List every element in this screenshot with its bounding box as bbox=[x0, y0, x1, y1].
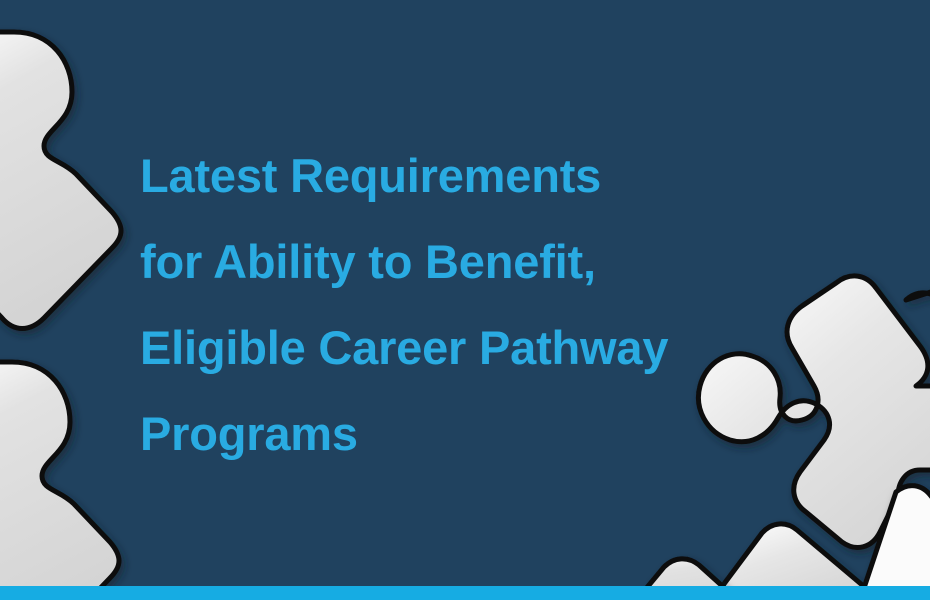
title-line-1: Latest Requirements bbox=[140, 133, 820, 219]
title-line-2: for Ability to Benefit, bbox=[140, 219, 820, 305]
title-slide: Latest Requirements for Ability to Benef… bbox=[0, 0, 930, 600]
title-line-3: Eligible Career Pathway bbox=[140, 305, 820, 391]
bottom-accent-bar bbox=[0, 586, 930, 600]
title-line-4: Programs bbox=[140, 391, 820, 477]
slide-title: Latest Requirements for Ability to Benef… bbox=[140, 133, 820, 477]
